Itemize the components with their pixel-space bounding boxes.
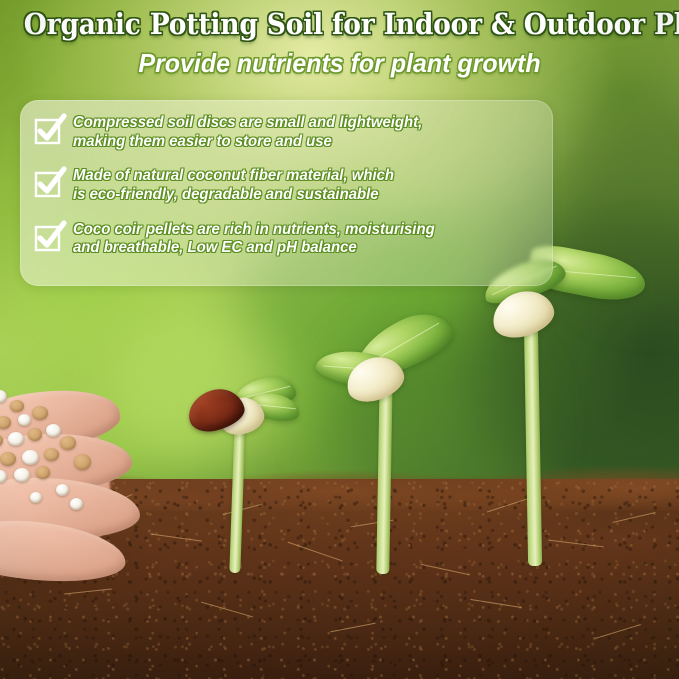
fertilizer-pellet [0,452,16,466]
feature-item: Made of natural coconut fiber material, … [34,167,537,220]
feature-item: Compressed soil discs are small and ligh… [34,114,537,167]
product-marketing-banner: Organic Potting Soil for Indoor & Outdoo… [0,0,679,679]
fertilizer-pellet [30,492,42,503]
fertilizer-pellet [36,466,50,479]
fertilizer-pellet [10,400,24,412]
feature-item-label: Coco coir pellets are rich in nutrients,… [73,221,435,258]
fertilizer-pellet [74,454,91,470]
feature-list-panel: Compressed soil discs are small and ligh… [20,100,553,286]
checkbox-checked-icon [34,117,62,145]
fertilizer-pellet [8,432,24,446]
feature-item-label: Made of natural coconut fiber material, … [73,167,394,204]
page-headline: Organic Potting Soil for Indoor & Outdoo… [24,7,655,41]
page-subheadline: Provide nutrients for plant growth [14,48,666,79]
seedling-stem [229,418,245,573]
fertilizer-pellet [14,468,30,482]
fertilizer-pellet [28,428,42,441]
fertilizer-pellet [32,406,48,420]
seedling-stage-2 [330,300,500,570]
fertilizer-pellet [18,414,31,426]
feature-item: Coco coir pellets are rich in nutrients,… [34,221,537,274]
fertilizer-pellet [46,424,61,437]
checkbox-checked-icon [34,170,62,198]
seedling-stage-1 [196,368,326,568]
checkbox-checked-icon [34,224,62,252]
hand-holding-pellets [0,398,195,588]
seedling-stage-3 [480,258,679,578]
feature-item-label: Compressed soil discs are small and ligh… [73,114,422,151]
fertilizer-pellet [60,436,76,450]
fertilizer-pellet [56,484,69,496]
fertilizer-pellet [70,498,83,510]
fertilizer-pellet [22,450,39,465]
seedling-stem [524,320,542,566]
seedling-stem [376,374,392,574]
fertilizer-pellet [44,448,59,461]
